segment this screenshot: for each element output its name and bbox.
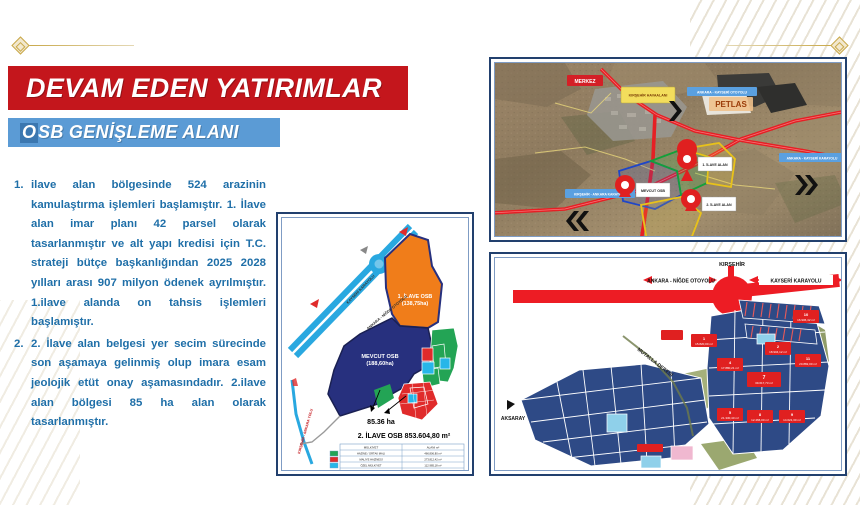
pin-label-2: MEVCUT OSB [641,189,665,193]
svg-text:20.882,00 m²: 20.882,00 m² [799,362,817,366]
ornament-right [726,38,846,52]
plan-table: MÜLKİYET ALANI m² HAZİNE / ORTAK MALI 46… [330,444,464,471]
label-highway-right: ANKARA - KAYSERİ KARAYOLU [787,157,838,161]
plan-map-inner: 1. İLAVE OSB (138,75ha) MEVCUT OSB (188,… [281,217,469,471]
plan-table-header-1: ALANI m² [427,446,440,450]
svg-text:14.021,30 m²: 14.021,30 m² [783,418,801,422]
plan-table-header-0: MÜLKİYET [364,445,379,450]
label-otoyolu: ANKARA - NİĞDE OTOYOLU [647,277,715,285]
svg-text:16.906,42 m²: 16.906,42 m² [797,318,815,322]
motorway-label-left: ANKARA - NİĞDE OTOYOLU [643,275,717,285]
svg-text:17.880,21 m²: 17.880,21 m² [721,366,739,370]
satellite-map-panel: MERKEZ KIRŞEHİR HAVAALANI ANKARA - KAYSE… [489,57,847,242]
plan-table-cell-label: GENEL TOPLAM [361,470,382,471]
parcel-tag: 2 18.904,12 m² [765,342,791,355]
ornament-line [726,45,833,46]
list-item: 2. 2. İlave alan belgesi yer secim sürec… [14,335,266,433]
parcel-tag: 8 12.466,00 m² [747,410,773,423]
list-item: 1. ilave alan bölgesinde 524 arazinin ka… [14,176,266,333]
svg-text:10: 10 [804,312,809,317]
parcel-tag: 9 14.021,30 m² [779,410,805,423]
legend-swatch-cyan [330,463,338,468]
parcel-tag: 5 21.330,40 m² [717,408,743,421]
label-petlas: PETLAS [715,100,747,109]
page-subtitle-text: SB GENİŞLEME ALANI [38,122,239,143]
pin-label-3: 2. İLAVE ALAN [706,203,732,207]
parcel-tag: 10 16.906,42 m² [793,310,819,323]
cadastral-map-inner: KIRŞEHİR ANKARA - NİĞDE OTOYOLU KAYSERİ … [494,257,842,471]
zone-existing-label: MEVCUT OSB [361,354,398,360]
svg-text:21.330,40 m²: 21.330,40 m² [721,416,739,420]
parcel-tag: 11 20.882,00 m² [795,354,821,367]
svg-text:18.904,12 m²: 18.904,12 m² [769,350,787,354]
diamond-icon [830,36,848,54]
plan-table-cell-value: 273.812,42 m² [424,458,441,462]
satellite-map-svg: MERKEZ KIRŞEHİR HAVAALANI ANKARA - KAYSE… [495,63,842,237]
diamond-icon [11,36,29,54]
svg-text:12.466,00 m²: 12.466,00 m² [751,418,769,422]
plan-table-cell-value: 853.604,11 m² [424,470,441,471]
label-aksaray: AKSARAY [501,416,526,422]
parcel-tag: 7 39.617,73 m² [747,372,781,387]
slide-root: DEVAM EDEN YATIRIMLAR OSB GENİŞLEME ALAN… [0,0,860,505]
label-merkez: MERKEZ [574,79,595,85]
list-item-number: 1. [14,176,24,196]
pin-label-1: 1. İLAVE ALAN [702,163,728,167]
parcel-tag: 1 15.820,00 m² [691,334,717,347]
list-item-text: ilave alan bölgesinde 524 arazinin kamul… [31,179,266,328]
label-highway-left: KIRŞEHİR - ANKARA KARAYOLU [574,193,627,197]
ornament-left [14,38,134,52]
label-airport: KIRŞEHİR HAVAALANI [629,94,668,98]
plan-table-cell-value: 112.985,18 m² [424,464,441,468]
parcel-tag: 4 17.880,21 m² [717,358,743,371]
plan-map-panel: 1. İLAVE OSB (138,75ha) MEVCUT OSB (188,… [276,212,474,476]
subtitle-badge: O [20,123,38,143]
legend-swatch-green [330,451,338,456]
ornament-line [27,45,134,46]
label-kirsehir: KIRŞEHİR [719,261,745,268]
callout-area-label: 85.36 ha [367,419,395,426]
body-list: 1. ilave alan bölgesinde 524 arazinin ka… [14,176,266,433]
label-karayolu: KAYSERİ KARAYOLU [770,278,821,285]
svg-text:39.617,73 m²: 39.617,73 m² [755,381,773,385]
satellite-map-inner: MERKEZ KIRŞEHİR HAVAALANI ANKARA - KAYSE… [494,62,842,237]
plan-map-svg: 1. İLAVE OSB (138,75ha) MEVCUT OSB (188,… [282,218,469,471]
motorway-label-right: KAYSERİ KARAYOLU [749,275,842,285]
list-item-number: 2. [14,335,24,355]
page-title: DEVAM EDEN YATIRIMLAR [8,66,408,110]
zone-add1-area: (138,75ha) [402,301,429,307]
zone-existing-area: (188,60ha) [366,361,393,367]
plan-table-cell-value: 466.806,80 m² [424,452,441,456]
cadastral-map-svg: KIRŞEHİR ANKARA - NİĞDE OTOYOLU KAYSERİ … [495,258,842,471]
page-title-text: DEVAM EDEN YATIRIMLAR [26,73,382,104]
list-item-text: 2. İlave alan belgesi yer secim sürecind… [31,338,266,428]
page-subtitle: OSB GENİŞLEME ALANI [8,118,280,147]
plan-table-title: 2. İLAVE OSB 853.604,80 m² [358,432,451,440]
legend-swatch-red [330,457,338,462]
svg-text:15.820,00 m²: 15.820,00 m² [695,342,713,346]
label-highway-top: ANKARA - KAYSERİ OTOYOLU [697,91,748,95]
cadastral-map-panel: KIRŞEHİR ANKARA - NİĞDE OTOYOLU KAYSERİ … [489,252,847,476]
body-text-column: 1. ilave alan bölgesinde 524 arazinin ka… [14,176,266,435]
